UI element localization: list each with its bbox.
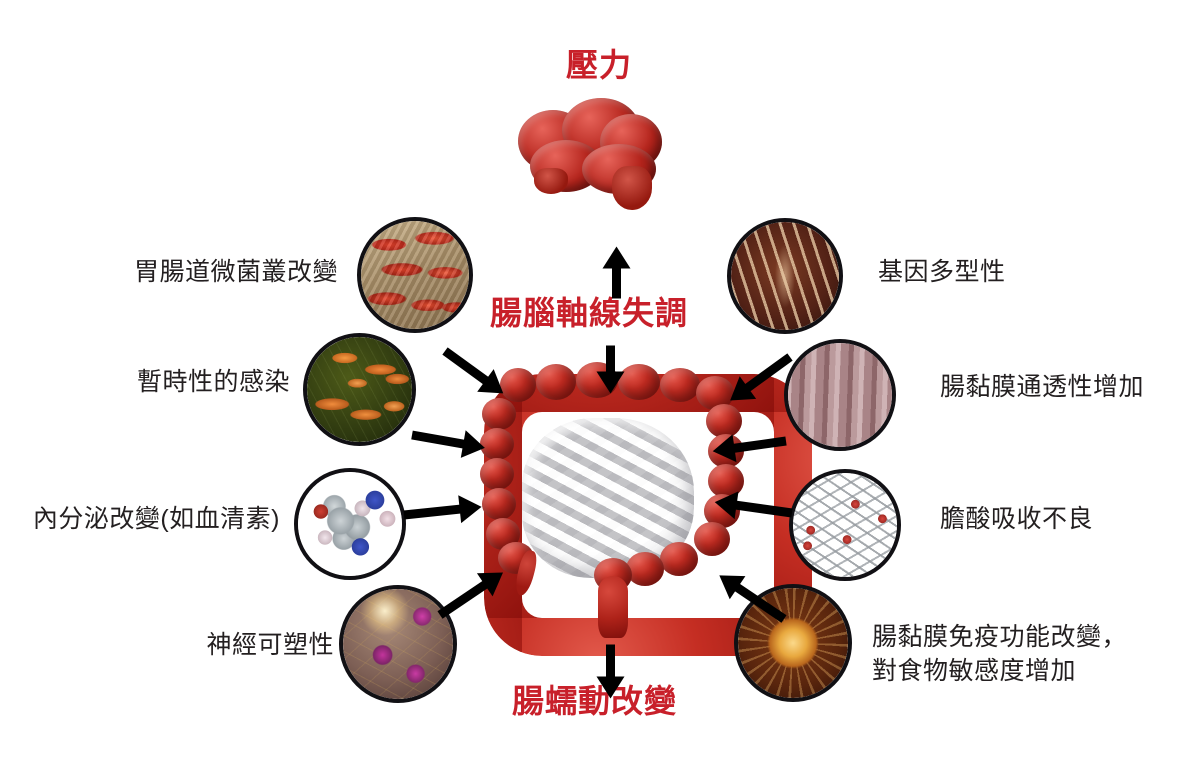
arrow-colon-to-motility xyxy=(582,645,640,654)
brain-illustration xyxy=(512,92,672,210)
arrow-infection-to-colon xyxy=(409,420,477,461)
arrow-serotonin-to-colon xyxy=(402,493,471,530)
hub-label-gut-brain-axis: 腸腦軸線失調 xyxy=(490,288,688,334)
bacteria-rods-icon[interactable] xyxy=(357,217,473,333)
arrow-brain-to-hub xyxy=(591,290,643,299)
label-mucosal-immune-food-sensitivity: 腸黏膜免疫功能改變， 對食物敏感度增加 xyxy=(872,620,1172,688)
label-increased-mucosal-permeability: 腸黏膜通透性增加 xyxy=(940,370,1180,404)
arrow-hub-to-colon xyxy=(585,346,637,355)
bacilli-infection-icon[interactable] xyxy=(303,333,416,446)
intestinal-villi-icon[interactable] xyxy=(784,339,896,451)
label-genetic-polymorphism: 基因多型性 xyxy=(878,255,1098,289)
label-endocrine-change-serotonin: 內分泌改變(如血清素) xyxy=(22,502,280,536)
label-gi-microbiota-change: 胃腸道微菌叢改變 xyxy=(118,255,338,289)
large-intestine-illustration xyxy=(478,370,746,638)
bile-acid-molecule-icon[interactable] xyxy=(789,469,901,581)
arrow-microbiota-to-colon xyxy=(436,339,502,399)
ibs-pathophysiology-diagram: 壓力 腸腦軸線失調 xyxy=(0,0,1184,762)
dna-helix-icon[interactable] xyxy=(727,218,843,334)
label-neuroplasticity: 神經可塑性 xyxy=(194,628,334,662)
top-label-stress: 壓力 xyxy=(566,40,632,86)
serotonin-molecule-icon[interactable] xyxy=(294,468,406,580)
bottom-label-altered-motility: 腸蠕動改變 xyxy=(512,676,677,722)
label-transient-infection: 暫時性的感染 xyxy=(110,365,290,399)
label-bile-acid-malabsorption: 膽酸吸收不良 xyxy=(940,502,1140,536)
